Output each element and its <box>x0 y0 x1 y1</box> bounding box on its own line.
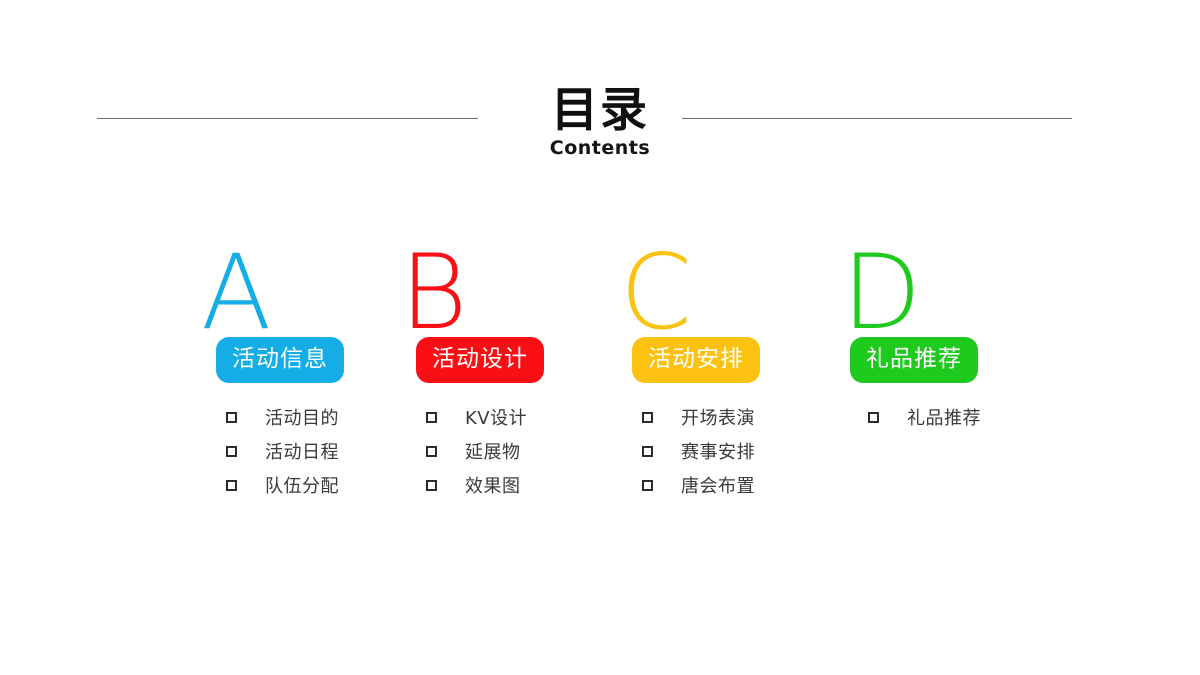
square-bullet-icon <box>226 480 237 491</box>
square-bullet-icon <box>426 480 437 491</box>
section-badge-c[interactable]: 活动安排 <box>632 337 760 383</box>
section-letter-a: A <box>201 242 271 345</box>
list-item-label: KV设计 <box>465 404 527 430</box>
list-item-label: 唐会布置 <box>681 472 755 498</box>
square-bullet-icon <box>426 412 437 423</box>
list-item[interactable]: 队伍分配 <box>226 468 416 502</box>
section-letter-b: B <box>400 242 467 345</box>
slide-header: 目录 Contents <box>0 86 1200 166</box>
title-block: 目录 Contents <box>0 86 1200 159</box>
section-badge-a[interactable]: 活动信息 <box>216 337 344 383</box>
list-item[interactable]: 延展物 <box>426 434 616 468</box>
contents-section-b[interactable]: B 活动设计 KV设计 延展物 效果图 <box>396 258 611 518</box>
section-item-list-d: 礼品推荐 <box>868 400 1058 434</box>
list-item-label: 效果图 <box>465 472 521 498</box>
section-item-list-c: 开场表演 赛事安排 唐会布置 <box>642 400 832 502</box>
square-bullet-icon <box>642 480 653 491</box>
list-item-label: 开场表演 <box>681 404 755 430</box>
slide-canvas: 目录 Contents A 活动信息 活动目的 活动日程 队伍分配 <box>0 0 1200 675</box>
square-bullet-icon <box>642 412 653 423</box>
contents-section-a[interactable]: A 活动信息 活动目的 活动日程 队伍分配 <box>196 258 411 518</box>
list-item[interactable]: 效果图 <box>426 468 616 502</box>
section-badge-b[interactable]: 活动设计 <box>416 337 544 383</box>
contents-section-c[interactable]: C 活动安排 开场表演 赛事安排 唐会布置 <box>612 258 827 518</box>
list-item-label: 礼品推荐 <box>907 404 981 430</box>
contents-section-d[interactable]: D 礼品推荐 礼品推荐 <box>830 258 1045 518</box>
section-badge-d[interactable]: 礼品推荐 <box>850 337 978 383</box>
square-bullet-icon <box>426 446 437 457</box>
section-letter-d: D <box>842 242 921 345</box>
list-item[interactable]: 活动目的 <box>226 400 416 434</box>
section-item-list-b: KV设计 延展物 效果图 <box>426 400 616 502</box>
square-bullet-icon <box>868 412 879 423</box>
page-subtitle: Contents <box>0 137 1200 159</box>
list-item[interactable]: 开场表演 <box>642 400 832 434</box>
list-item-label: 活动日程 <box>265 438 339 464</box>
square-bullet-icon <box>226 412 237 423</box>
page-title: 目录 <box>0 86 1200 136</box>
list-item[interactable]: 唐会布置 <box>642 468 832 502</box>
section-item-list-a: 活动目的 活动日程 队伍分配 <box>226 400 416 502</box>
list-item[interactable]: 活动日程 <box>226 434 416 468</box>
contents-columns: A 活动信息 活动目的 活动日程 队伍分配 B 活动设计 <box>0 258 1200 518</box>
list-item[interactable]: 赛事安排 <box>642 434 832 468</box>
list-item-label: 活动目的 <box>265 404 339 430</box>
list-item[interactable]: 礼品推荐 <box>868 400 1058 434</box>
square-bullet-icon <box>226 446 237 457</box>
square-bullet-icon <box>642 446 653 457</box>
list-item[interactable]: KV设计 <box>426 400 616 434</box>
list-item-label: 赛事安排 <box>681 438 755 464</box>
section-letter-c: C <box>620 242 692 345</box>
list-item-label: 延展物 <box>465 438 521 464</box>
list-item-label: 队伍分配 <box>265 472 339 498</box>
